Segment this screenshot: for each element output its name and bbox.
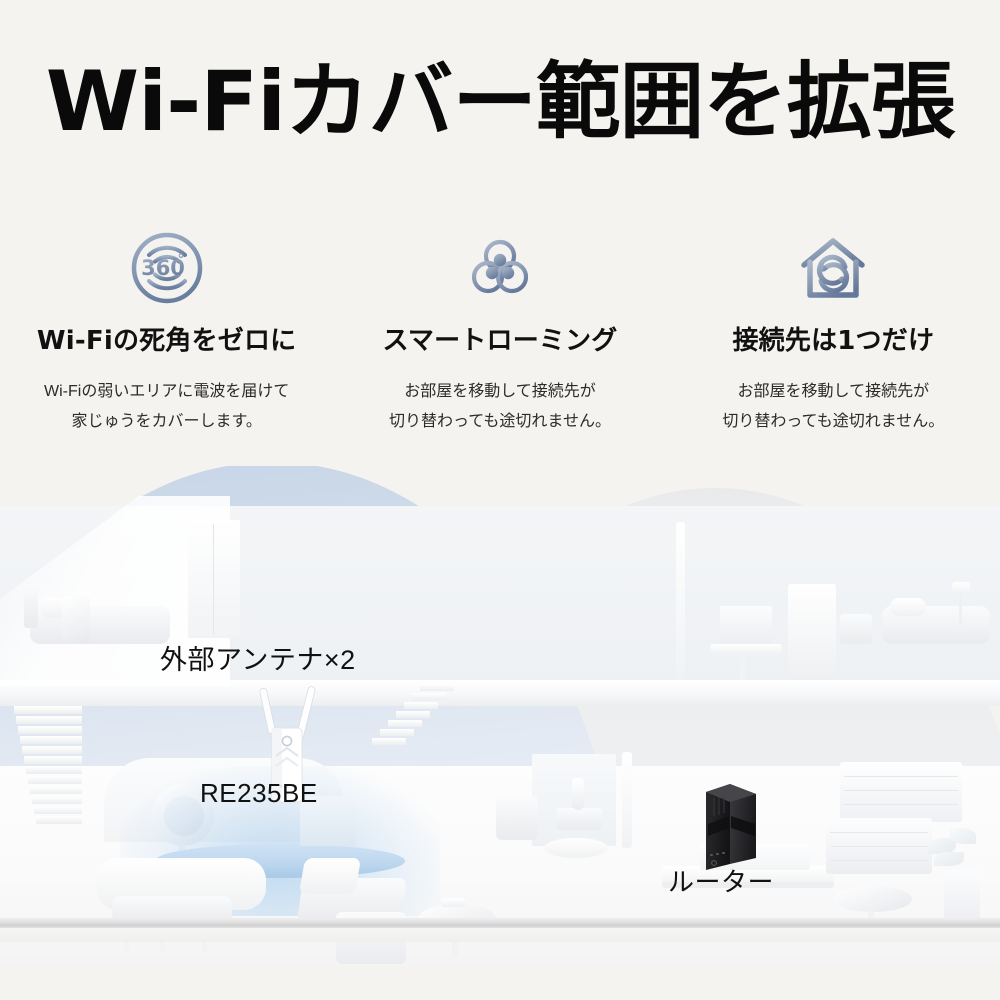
sofa-backrest-left [299,858,361,894]
side-table-center [556,808,602,830]
closet-upper-middle [188,520,240,638]
icon-degree-text: ° [177,252,184,268]
feature-title: Wi-Fiの死角をゼロに [37,320,296,357]
blanket-upper-left [62,596,90,644]
wardrobe-upper-right [788,584,836,680]
label-model-name: RE235BE [200,778,318,809]
lamp-upper-right [952,582,970,594]
feature-description: お部屋を移動して接続先が 切り替わっても途切れません。 [389,377,611,438]
feature-desc-line1: お部屋を移動して接続先が [389,377,611,407]
nightstand-upper-right [840,614,872,644]
house-illustration [0,466,1000,1000]
promo-page: Wi-Fiカバー範囲を拡張 360 [0,0,1000,1000]
headboard-upper-left [24,584,38,628]
feature-desc-line1: お部屋を移動して接続先が [722,377,944,407]
dresser-line-2 [830,846,928,847]
rug-center [544,838,608,858]
closet-seam [213,524,214,634]
dresser-line-1 [830,832,928,833]
page-title: Wi-Fiカバー範囲を拡張 [0,58,1000,145]
sofa-lower-left-corner [496,796,538,840]
feature-desc-line2: 切り替わっても途切れません。 [389,407,611,437]
vase-center [572,778,584,810]
house-sync-icon [790,232,876,304]
feature-description: お部屋を移動して接続先が 切り替わっても途切れません。 [722,377,944,438]
cabinet-line-1 [844,776,958,777]
feature-item-360: 360 ° Wi-Fiの死角をゼロに Wi-Fiの弱いエリアに電波を届けて 家じ… [0,232,333,438]
feature-list: 360 ° Wi-Fiの死角をゼロに Wi-Fiの弱いエリアに電波を届けて 家じ… [0,232,1000,452]
divider-wall-upper [676,522,685,680]
staircase-left [14,706,94,838]
tray-decor [440,898,466,907]
lamp-pole-upper-right [959,594,962,626]
feature-title: スマートローミング [382,320,617,357]
pillow-upper-right [890,598,926,616]
cabinet-line-3 [844,804,958,805]
plant-leaf-2 [950,828,976,844]
label-router: ルーター [668,862,774,899]
floor-slab-face [0,928,1000,942]
dresser-line-3 [830,860,928,861]
cabinet-stack-right [840,762,962,822]
wifi-router-device [698,778,760,870]
label-external-antenna: 外部アンテナ×2 [160,638,356,677]
mesh-roaming-icon [457,232,543,304]
plant-leaf-3 [934,852,964,866]
tv-upper-right [720,606,772,644]
ottoman-right [834,886,912,912]
feature-desc-line1: Wi-Fiの弱いエリアに電波を届けて [44,377,289,407]
cabinet-line-2 [844,790,958,791]
plant-pot [944,870,980,922]
feature-item-roaming: スマートローミング お部屋を移動して接続先が 切り替わっても途切れません。 [333,232,666,438]
wall-center-lower [622,752,632,848]
wifi-360-icon: 360 ° [124,232,210,304]
tv-stand-leg [740,654,745,680]
tv-stand-upper-right [710,644,782,654]
feature-desc-line2: 家じゅうをカバーします。 [44,407,289,437]
house-structure [0,466,1000,1000]
feature-title: 接続先は1つだけ [732,320,934,357]
feature-item-single-ssid: 接続先は1つだけ お部屋を移動して接続先が 切り替わっても途切れません。 [667,232,1000,438]
feature-description: Wi-Fiの弱いエリアに電波を届けて 家じゅうをカバーします。 [44,377,289,438]
feature-desc-line2: 切り替わっても途切れません。 [722,407,944,437]
